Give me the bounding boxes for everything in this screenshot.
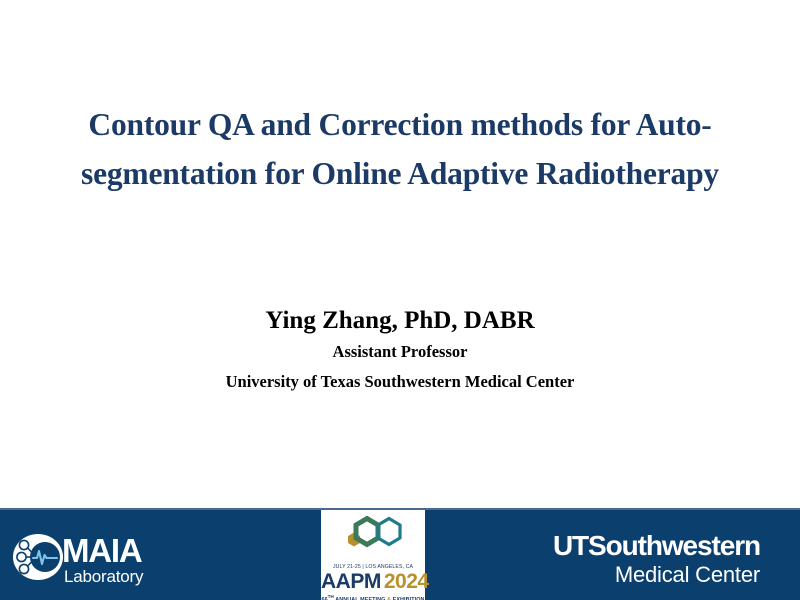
maia-subtitle: Laboratory — [64, 568, 143, 585]
author-affiliation: University of Texas Southwestern Medical… — [50, 367, 750, 397]
ut-southwestern-name: UTSouthwestern — [553, 532, 760, 560]
maia-name: MAIA — [62, 534, 143, 567]
footer-center-panel: JULY 21-25 | LOS ANGELES, CA AAPM2024 66… — [321, 510, 425, 600]
title-line-2: segmentation for Online Adaptive Radioth… — [50, 149, 750, 198]
aapm-tagline: 66TH ANNUAL MEETING & EXHIBITION — [321, 594, 425, 600]
maia-neural-network-ecg-icon — [12, 532, 64, 587]
aapm-name: AAPM — [321, 570, 381, 593]
ut-southwestern-subtitle: Medical Center — [553, 564, 760, 586]
aapm-2024-logo: JULY 21-25 | LOS ANGELES, CA AAPM2024 66… — [321, 516, 425, 600]
title-line-1: Contour QA and Correction methods for Au… — [50, 100, 750, 149]
footer-right-panel: UTSouthwestern Medical Center — [425, 510, 800, 600]
maia-laboratory-logo: MAIA Laboratory — [12, 532, 143, 587]
slide-footer-bar: MAIA Laboratory JULY 21-25 | LOS ANGELES… — [0, 508, 800, 600]
author-role: Assistant Professor — [50, 337, 750, 367]
ut-southwestern-logo: UTSouthwestern Medical Center — [553, 532, 760, 586]
author-block: Ying Zhang, PhD, DABR Assistant Professo… — [50, 305, 750, 397]
aapm-main-wordmark: AAPM2024 — [321, 571, 425, 592]
footer-left-panel: MAIA Laboratory — [0, 510, 320, 600]
page-title: Contour QA and Correction methods for Au… — [50, 100, 750, 198]
aapm-hexagons-icon — [321, 516, 425, 563]
aapm-year: 2024 — [384, 570, 429, 593]
presentation-slide: Contour QA and Correction methods for Au… — [0, 0, 800, 600]
maia-wordmark: MAIA Laboratory — [62, 534, 143, 585]
author-name: Ying Zhang, PhD, DABR — [50, 305, 750, 337]
